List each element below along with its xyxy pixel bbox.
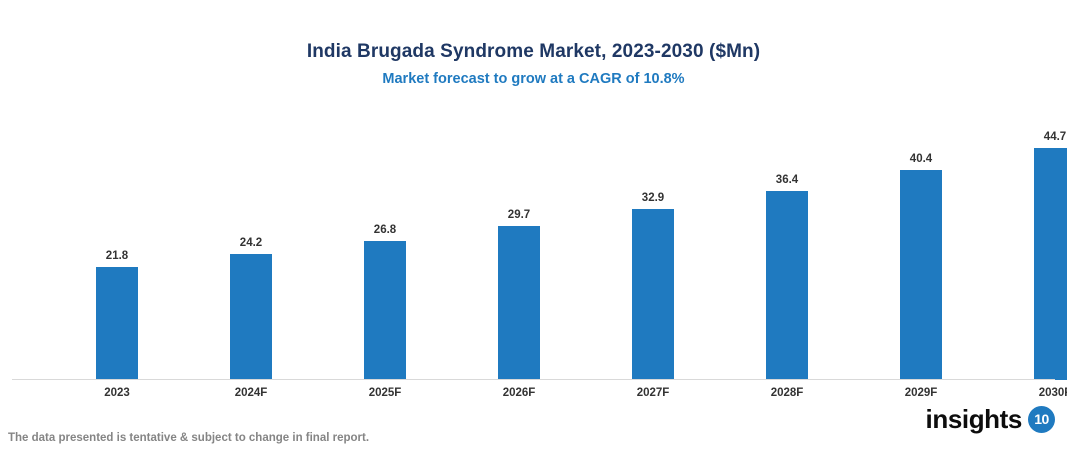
bar-group: 29.7 bbox=[452, 110, 586, 380]
x-axis-tick: 2025F bbox=[318, 381, 452, 405]
logo-wordmark: insights bbox=[926, 405, 1022, 433]
bar[interactable] bbox=[96, 267, 138, 380]
x-axis-tick-label: 2025F bbox=[369, 387, 402, 399]
bar-group: 21.8 bbox=[50, 110, 184, 380]
page-title: India Brugada Syndrome Market, 2023-2030… bbox=[0, 40, 1067, 64]
bar[interactable] bbox=[900, 170, 942, 380]
bar[interactable] bbox=[1034, 148, 1067, 380]
bar-group: 40.4 bbox=[854, 110, 988, 380]
bar[interactable] bbox=[364, 241, 406, 380]
plot-area: 21.824.226.829.732.936.440.444.7 bbox=[12, 110, 1055, 380]
x-axis-tick: 2023 bbox=[50, 381, 184, 405]
x-axis-tick: 2028F bbox=[720, 381, 854, 405]
chart-subtitle: Market forecast to grow at a CAGR of 10.… bbox=[0, 69, 1067, 89]
bar-value-label: 24.2 bbox=[240, 237, 262, 250]
title-block: India Brugada Syndrome Market, 2023-2030… bbox=[0, 40, 1067, 89]
x-axis-tick-label: 2024F bbox=[235, 387, 268, 399]
bar-value-label: 40.4 bbox=[910, 153, 932, 166]
bar-group: 32.9 bbox=[586, 110, 720, 380]
bar-value-label: 21.8 bbox=[106, 250, 128, 263]
x-axis-line bbox=[12, 379, 1055, 380]
x-axis-tick-label: 2023 bbox=[104, 387, 130, 399]
disclaimer-note: The data presented is tentative & subjec… bbox=[8, 430, 369, 446]
bar-value-label: 29.7 bbox=[508, 209, 530, 222]
bar[interactable] bbox=[766, 191, 808, 380]
x-axis-tick: 2030F bbox=[988, 381, 1067, 405]
x-axis-tick-label: 2027F bbox=[637, 387, 670, 399]
bar-group: 24.2 bbox=[184, 110, 318, 380]
x-axis-tick-row: 20232024F2025F2026F2027F2028F2029F2030F bbox=[12, 381, 1055, 407]
x-axis-tick: 2026F bbox=[452, 381, 586, 405]
bar-value-label: 44.7 bbox=[1044, 131, 1066, 144]
bar[interactable] bbox=[230, 254, 272, 380]
bar-value-label: 26.8 bbox=[374, 224, 396, 237]
x-axis-tick: 2024F bbox=[184, 381, 318, 405]
logo-badge-icon: 10 bbox=[1028, 406, 1055, 433]
x-axis-tick: 2027F bbox=[586, 381, 720, 405]
bar[interactable] bbox=[498, 226, 540, 380]
bar[interactable] bbox=[632, 209, 674, 380]
bar-value-label: 36.4 bbox=[776, 174, 798, 187]
x-axis-tick-label: 2030F bbox=[1039, 387, 1067, 399]
bar-group: 26.8 bbox=[318, 110, 452, 380]
insights10-logo: insights 10 bbox=[926, 405, 1055, 433]
x-axis-tick-label: 2029F bbox=[905, 387, 938, 399]
bar-group: 36.4 bbox=[720, 110, 854, 380]
x-axis-tick: 2029F bbox=[854, 381, 988, 405]
x-axis-tick-label: 2028F bbox=[771, 387, 804, 399]
bar-value-label: 32.9 bbox=[642, 192, 664, 205]
x-axis-tick-label: 2026F bbox=[503, 387, 536, 399]
bar-group: 44.7 bbox=[988, 110, 1067, 380]
chart-figure: India Brugada Syndrome Market, 2023-2030… bbox=[0, 0, 1067, 454]
